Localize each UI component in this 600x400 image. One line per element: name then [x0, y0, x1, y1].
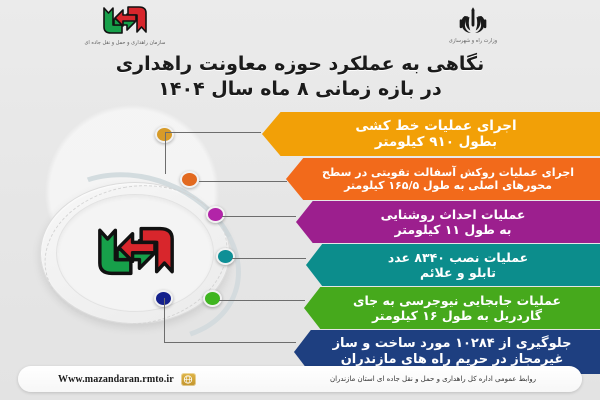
- footer-url-text: Www.mazandaran.rmto.ir: [58, 374, 174, 385]
- stat-line-2: تابلو و علائم: [420, 265, 496, 280]
- stat-line-2: به طول ۱۱ کیلومتر: [395, 222, 512, 237]
- stat-line-2: بطول ۹۱۰ کیلومتر: [375, 134, 497, 150]
- leader-line-5b: [164, 342, 296, 343]
- stat-line-1: عملیات جابجایی نیوجرسی به جای: [353, 293, 561, 308]
- leader-line-0b: [165, 132, 261, 133]
- leader-line-5: [164, 298, 165, 342]
- leader-line-3: [232, 258, 306, 259]
- infographic-canvas: سازمان راهداری و حمل و نقل جاده ای وزارت…: [0, 0, 600, 400]
- leader-line-0: [165, 132, 166, 174]
- stat-line-2: غیرمجاز در حریم راه های مازندران: [341, 352, 564, 367]
- stat-line-2: محورهای اصلی به طول ۱۶۵/۵ کیلومتر: [344, 179, 552, 192]
- hub-node-newjersey-relocation[interactable]: [203, 290, 222, 307]
- logo-mazandaran-rmto: سازمان راهداری و حمل و نقل جاده ای: [70, 2, 180, 46]
- footer-organization: روابط عمومی اداره کل راهداری و حمل و نقل…: [330, 375, 536, 383]
- footer-bar: Www.mazandaran.rmto.ir روابط عمومی اداره…: [18, 366, 582, 392]
- iran-national-emblem: [456, 6, 490, 36]
- stat-banner-asphalt-overlay[interactable]: اجرای عملیات روکش آسفالت تقویتی در سطح م…: [286, 158, 600, 200]
- stat-line-1: اجرای عملیات خط کشی: [355, 118, 516, 134]
- stat-line-1: عملیات احداث روشنایی: [381, 207, 526, 222]
- page-title: نگاهی به عملکرد حوزه معاونت راهداری در ب…: [0, 52, 600, 103]
- mazandaran-road-maintenance-logo: [99, 2, 151, 38]
- hub-node-signs-installation[interactable]: [216, 248, 235, 265]
- stat-line-1: اجرای عملیات روکش آسفالت تقویتی در سطح: [322, 166, 574, 179]
- leader-line-4: [219, 300, 305, 301]
- hub-node-lighting-construction[interactable]: [206, 206, 225, 223]
- logo-mazandaran-caption: سازمان راهداری و حمل و نقل جاده ای: [70, 40, 180, 47]
- logo-iran-ministry-caption: وزارت راه و شهرسازی: [418, 38, 528, 45]
- page-title-line-1: نگاهی به عملکرد حوزه معاونت راهداری: [116, 53, 484, 75]
- stat-line-2: گاردریل به طول ۱۶ کیلومتر: [372, 308, 542, 323]
- stat-banner-signs-installation[interactable]: عملیات نصب ۸۳۴۰ عدد تابلو و علائم: [306, 244, 600, 286]
- stat-line-1: عملیات نصب ۸۳۴۰ عدد: [388, 250, 528, 265]
- hub-node-asphalt-overlay[interactable]: [180, 171, 199, 188]
- stat-line-1: جلوگیری از ۱۰۲۸۴ مورد ساخت و ساز: [333, 336, 572, 351]
- footer-website[interactable]: Www.mazandaran.rmto.ir: [58, 373, 196, 386]
- central-hub-graphic: [28, 168, 258, 343]
- stat-banner-newjersey-relocation[interactable]: عملیات جابجایی نیوجرسی به جای گاردریل به…: [304, 287, 600, 329]
- stat-banner-lighting-construction[interactable]: عملیات احداث روشنایی به طول ۱۱ کیلومتر: [296, 201, 600, 243]
- globe-icon-glyph: [183, 375, 193, 384]
- hub-logo-icon: [90, 220, 182, 282]
- page-title-line-2: در بازه زمانی ۸ ماه سال ۱۴۰۴: [0, 77, 600, 102]
- globe-icon: [181, 373, 196, 386]
- leader-line-1: [199, 181, 287, 182]
- leader-line-2: [222, 216, 296, 217]
- logo-iran-ministry: وزارت راه و شهرسازی: [418, 4, 528, 44]
- stat-banner-line-marking[interactable]: اجرای عملیات خط کشی بطول ۹۱۰ کیلومتر: [262, 112, 600, 156]
- header: سازمان راهداری و حمل و نقل جاده ای وزارت…: [0, 0, 600, 112]
